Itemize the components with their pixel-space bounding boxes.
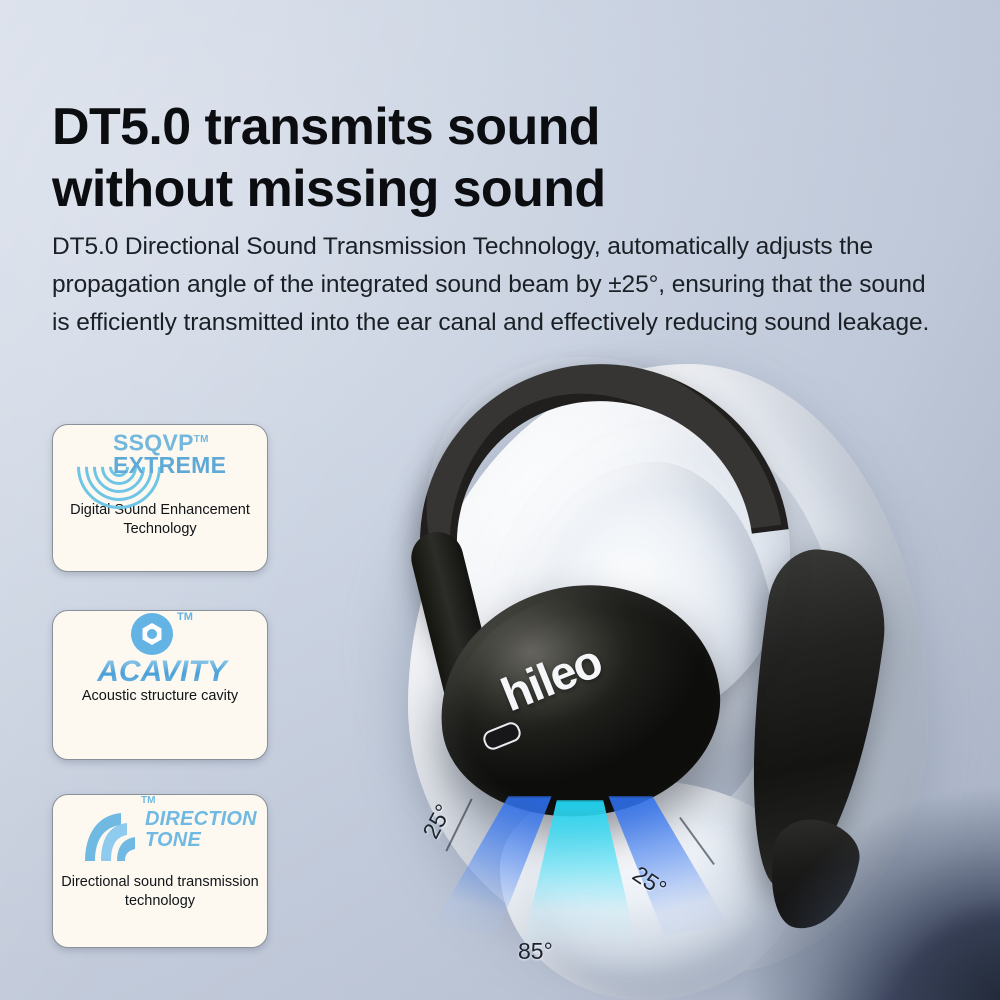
feature-card-acavity[interactable]: TM ACAVITY Acoustic structure cavity [52, 610, 268, 760]
page-title: DT5.0 transmits sound without missing so… [52, 96, 712, 220]
feature-card-direction-tone[interactable]: TM DIRECTION TONE Directional sound tran… [52, 794, 268, 948]
description-paragraph: DT5.0 Directional Sound Transmission Tec… [52, 228, 932, 342]
feature-caption: Directional sound transmission technolog… [53, 871, 267, 911]
feature-card-ssqvp[interactable]: SSQVPTM EXTREME Digital Sound Enhancemen… [52, 424, 268, 572]
headline-line-1: DT5.0 transmits sound [52, 96, 712, 158]
product-marketing-banner: hileo 25° 85° 25° DT5.0 transmits sound … [0, 0, 1000, 1000]
hexagon-cavity-icon [131, 613, 173, 655]
angle-label-center: 85° [518, 938, 553, 965]
ssqvp-logo: SSQVPTM EXTREME [53, 425, 267, 501]
dt-line-1: DIRECTION [145, 809, 257, 830]
trademark-symbol: TM [194, 434, 209, 445]
corner-shadow-core [850, 840, 1000, 1000]
ssqvp-wordmark: SSQVPTM EXTREME [113, 429, 226, 476]
ssqvp-line-2: EXTREME [113, 454, 226, 476]
trademark-symbol: TM [177, 611, 193, 623]
direction-tone-logo: TM DIRECTION TONE [53, 795, 267, 871]
trademark-symbol: TM [141, 795, 155, 806]
feature-caption: Acoustic structure cavity [53, 687, 267, 706]
acavity-logo: TM ACAVITY [53, 611, 267, 687]
acavity-wordmark: ACAVITY [77, 655, 247, 689]
feature-caption: Digital Sound Enhancement Technology [53, 501, 267, 539]
directional-wave-icon [81, 809, 143, 863]
headline-line-2: without missing sound [52, 158, 712, 220]
dt-line-2: TONE [145, 830, 257, 851]
direction-tone-wordmark: DIRECTION TONE [145, 809, 257, 851]
